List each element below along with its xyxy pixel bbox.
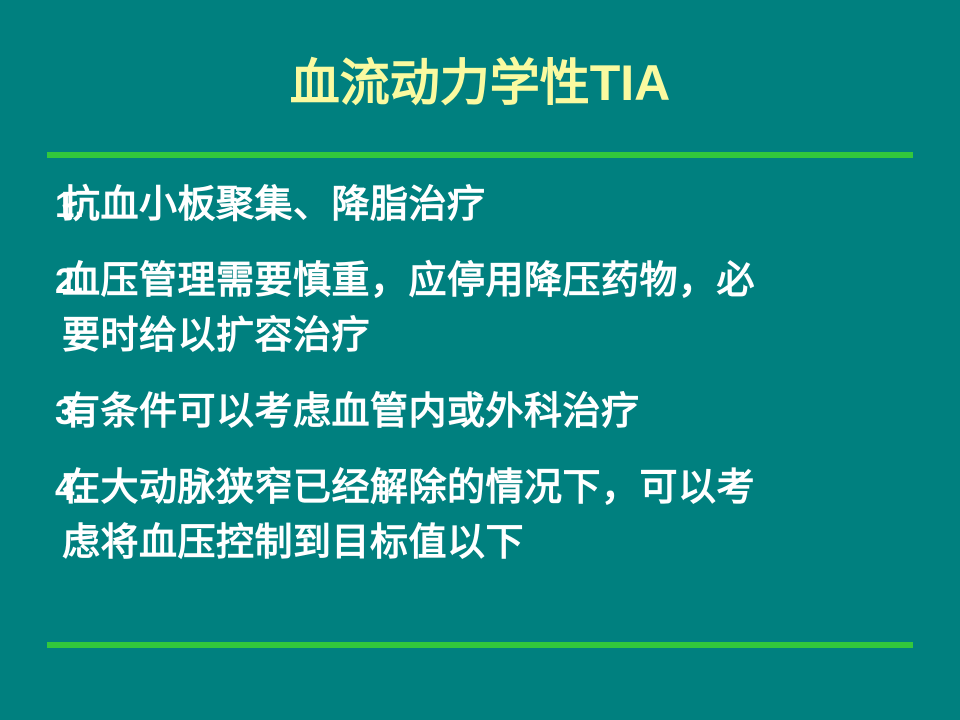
list-item-marker: 3. xyxy=(0,385,62,440)
footer-divider-bottom xyxy=(47,642,913,648)
title-divider-top xyxy=(47,152,913,158)
list-item: 1. 抗血小板聚集、降脂治疗 xyxy=(0,178,960,233)
list-item-text: 血压管理需要慎重，应停用降压药物，必 要时给以扩容治疗 xyxy=(62,254,960,364)
list-item: 3. 有条件可以考虑血管内或外科治疗 xyxy=(0,385,960,440)
list-item-text: 抗血小板聚集、降脂治疗 xyxy=(62,178,960,233)
numbered-list: 1. 抗血小板聚集、降脂治疗 2. 血压管理需要慎重，应停用降压药物，必 要时给… xyxy=(0,178,960,592)
list-item: 2. 血压管理需要慎重，应停用降压药物，必 要时给以扩容治疗 xyxy=(0,254,960,364)
list-item-text: 有条件可以考虑血管内或外科治疗 xyxy=(62,385,960,440)
list-item-marker: 4. xyxy=(0,461,62,516)
slide-canvas: 血流动力学性TIA 1. 抗血小板聚集、降脂治疗 2. 血压管理需要慎重，应停用… xyxy=(0,0,960,720)
list-item-marker: 1. xyxy=(0,178,62,233)
list-item-text: 在大动脉狭窄已经解除的情况下，可以考 虑将血压控制到目标值以下 xyxy=(62,461,960,571)
page-title: 血流动力学性TIA xyxy=(0,52,960,114)
list-item: 4. 在大动脉狭窄已经解除的情况下，可以考 虑将血压控制到目标值以下 xyxy=(0,461,960,571)
list-item-marker: 2. xyxy=(0,254,62,309)
